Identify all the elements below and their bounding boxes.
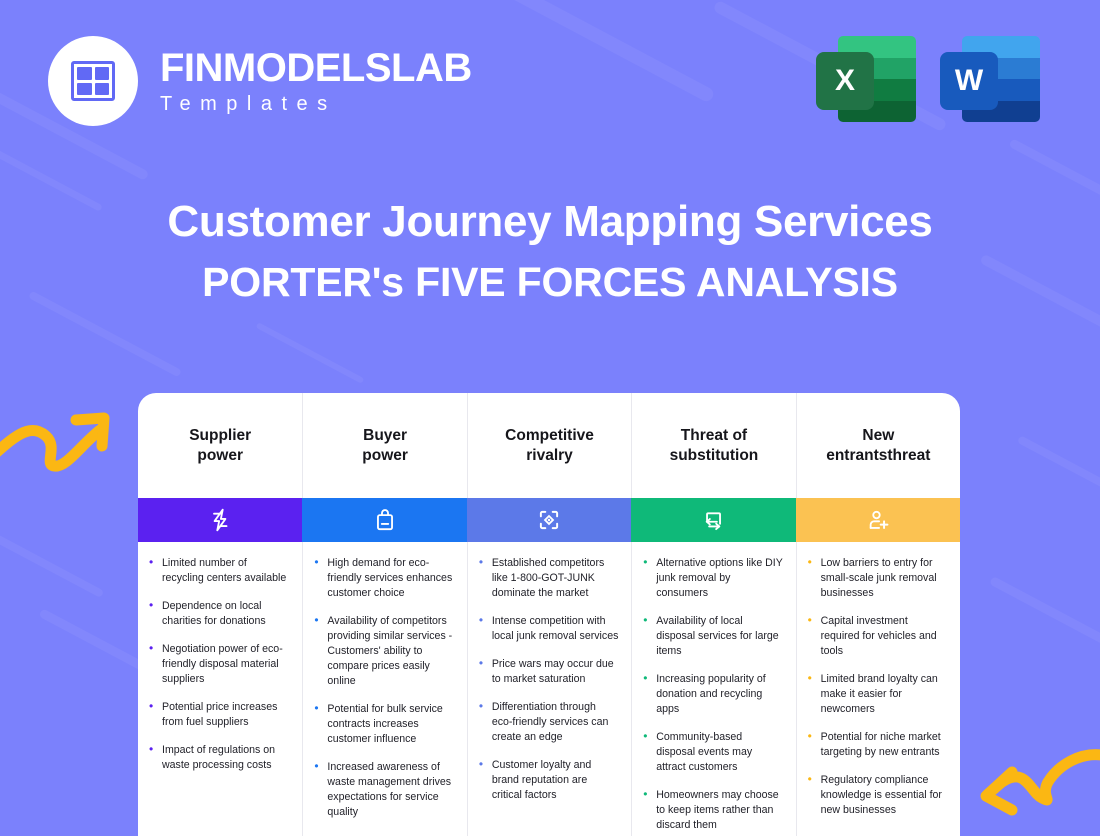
grid-squares-icon [71, 61, 115, 101]
header-line-2: substitution [670, 447, 759, 464]
header-line-1: Threat of [681, 427, 747, 444]
poster-root: FINMODELSLAB Templates X W Custom [0, 0, 1100, 836]
header-line-2: rivalry [526, 447, 573, 464]
column-body-supplier-power: Limited number of recycling centers avai… [138, 542, 302, 836]
list-item: Price wars may occur due to market satur… [478, 657, 619, 687]
list-item: Customer loyalty and brand reputation ar… [478, 758, 619, 803]
icon-strip-threat-of-substitution [631, 498, 795, 542]
list-item: Intense competition with local junk remo… [478, 614, 619, 644]
icon-segment [796, 498, 960, 542]
lightning-bolt-icon [207, 507, 233, 533]
squiggle-arrow-up-right-icon [0, 396, 132, 476]
brand-logo: FINMODELSLAB Templates [48, 36, 472, 126]
list-item: Regulatory compliance knowledge is essen… [807, 773, 948, 818]
porter-five-forces-table: Supplier power [138, 393, 960, 836]
title-line-2: PORTER's FIVE FORCES ANALYSIS [0, 258, 1100, 306]
page-title: Customer Journey Mapping Services PORTER… [0, 196, 1100, 306]
list-item: Alternative options like DIY junk remova… [642, 556, 783, 601]
bullet-list-buyer-power: High demand for eco-friendly services en… [313, 556, 454, 820]
header-line-2: entrantsthreat [826, 447, 930, 464]
column-competitive-rivalry: Competitive rivalry [467, 393, 631, 836]
list-item: Capital investment required for vehicles… [807, 614, 948, 659]
squiggle-arrow-down-left-icon [962, 738, 1100, 830]
header-line-2: power [197, 447, 243, 464]
column-new-entrants-threat: New entrantsthreat [796, 393, 960, 836]
list-item: Potential price increases from fuel supp… [148, 700, 290, 730]
excel-badge: X [816, 52, 874, 110]
office-icons: X W [816, 30, 1040, 122]
icon-strip-supplier-power [138, 498, 302, 542]
list-item: Dependence on local charities for donati… [148, 599, 290, 629]
list-item: Availability of local disposal services … [642, 614, 783, 659]
list-item: Limited brand loyalty can make it easier… [807, 672, 948, 717]
column-body-competitive-rivalry: Established competitors like 1-800-GOT-J… [467, 542, 631, 836]
brand-text: FINMODELSLAB Templates [160, 48, 472, 114]
icon-strip-new-entrants-threat [796, 498, 960, 542]
column-threat-of-substitution: Threat of substitution [631, 393, 795, 836]
column-body-threat-of-substitution: Alternative options like DIY junk remova… [631, 542, 795, 836]
list-item: Increased awareness of waste management … [313, 760, 454, 820]
header-line-1: New [862, 427, 894, 444]
list-item: Differentiation through eco-friendly ser… [478, 700, 619, 745]
icon-segment [467, 498, 631, 542]
bullet-list-threat-of-substitution: Alternative options like DIY junk remova… [642, 556, 783, 833]
column-body-buyer-power: High demand for eco-friendly services en… [302, 542, 466, 836]
list-item: Availability of competitors providing si… [313, 614, 454, 689]
shopping-bag-icon [372, 507, 398, 533]
list-item: Impact of regulations on waste processin… [148, 743, 290, 773]
list-item: Community-based disposal events may attr… [642, 730, 783, 775]
header-line-1: Competitive [505, 427, 594, 444]
column-header-competitive-rivalry: Competitive rivalry [467, 393, 631, 498]
header-line-1: Buyer [363, 427, 407, 444]
column-header-new-entrants-threat: New entrantsthreat [796, 393, 960, 498]
list-item: Homeowners may choose to keep items rath… [642, 788, 783, 833]
list-item: Potential for niche market targeting by … [807, 730, 948, 760]
column-buyer-power: Buyer power High demand [302, 393, 466, 836]
table-columns: Supplier power [138, 393, 960, 836]
title-line-1: Customer Journey Mapping Services [0, 196, 1100, 248]
bullet-list-new-entrants-threat: Low barriers to entry for small-scale ju… [807, 556, 948, 818]
list-item: Low barriers to entry for small-scale ju… [807, 556, 948, 601]
list-item: High demand for eco-friendly services en… [313, 556, 454, 601]
column-body-new-entrants-threat: Low barriers to entry for small-scale ju… [796, 542, 960, 836]
column-header-buyer-power: Buyer power [302, 393, 466, 498]
column-supplier-power: Supplier power [138, 393, 302, 836]
list-item: Potential for bulk service contracts inc… [313, 702, 454, 747]
word-icon: W [940, 30, 1040, 122]
header-line-1: Supplier [189, 427, 251, 444]
list-item: Negotiation power of eco-friendly dispos… [148, 642, 290, 687]
add-user-icon [865, 507, 891, 533]
target-focus-icon [536, 507, 562, 533]
icon-segment [302, 498, 466, 542]
column-header-supplier-power: Supplier power [138, 393, 302, 498]
bullet-list-supplier-power: Limited number of recycling centers avai… [148, 556, 290, 773]
icon-segment [631, 498, 795, 542]
icon-strip-competitive-rivalry [467, 498, 631, 542]
excel-icon: X [816, 30, 916, 122]
icon-strip-buyer-power [302, 498, 466, 542]
list-item: Established competitors like 1-800-GOT-J… [478, 556, 619, 601]
icon-segment [138, 498, 302, 542]
brand-name: FINMODELSLAB [160, 48, 472, 88]
bullet-list-competitive-rivalry: Established competitors like 1-800-GOT-J… [478, 556, 619, 803]
list-item: Increasing popularity of donation and re… [642, 672, 783, 717]
list-item: Limited number of recycling centers avai… [148, 556, 290, 586]
word-badge: W [940, 52, 998, 110]
logo-circle [48, 36, 138, 126]
column-header-threat-of-substitution: Threat of substitution [631, 393, 795, 498]
header-line-2: power [362, 447, 408, 464]
brand-tagline: Templates [160, 94, 472, 114]
exchange-arrows-icon [700, 507, 726, 533]
